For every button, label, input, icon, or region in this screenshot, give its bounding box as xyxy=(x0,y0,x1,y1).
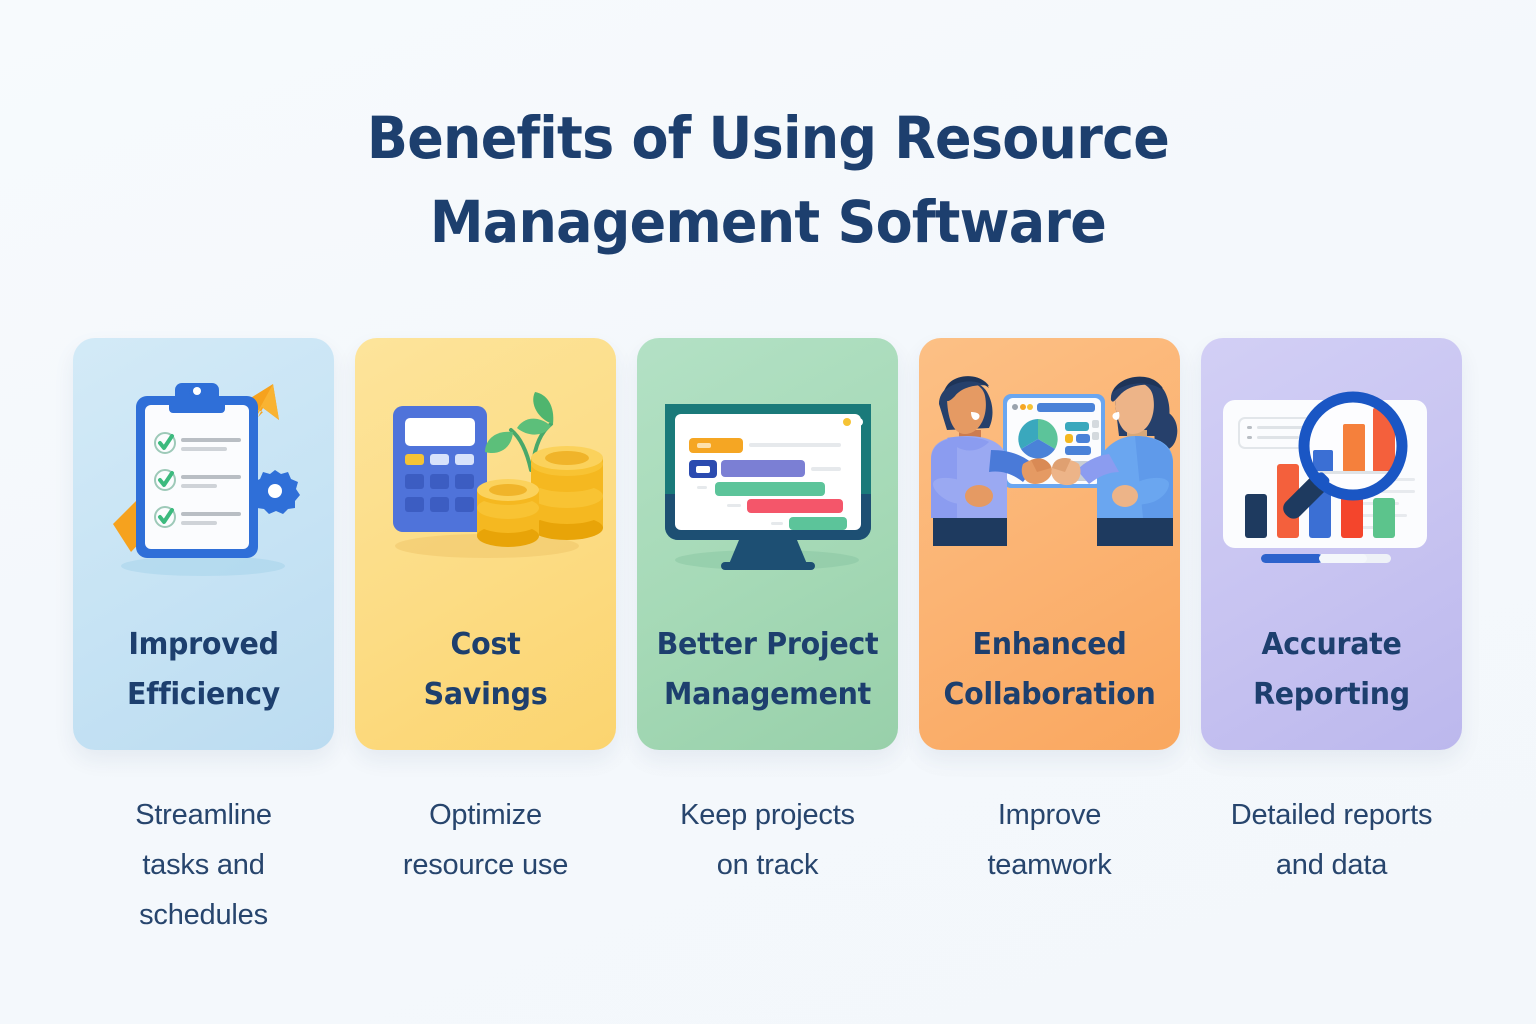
caption-line-2: teamwork xyxy=(987,849,1111,881)
infographic-page: Benefits of Using Resource Management So… xyxy=(0,0,1536,1024)
benefit-card-improved-efficiency[interactable]: Improved Efficiency xyxy=(73,338,334,750)
monitor-gantt-chart-icon xyxy=(637,338,898,608)
two-people-dashboard-icon xyxy=(919,338,1180,608)
card-title-improved-efficiency: Improved Efficiency xyxy=(87,620,320,720)
card-title-line-2: Management xyxy=(664,677,871,712)
caption-accurate-reporting: Detailed reports and data xyxy=(1201,790,1462,940)
caption-line-2: tasks and xyxy=(142,849,264,881)
card-title-line-1: Accurate xyxy=(1261,627,1401,662)
caption-enhanced-collaboration: Improve teamwork xyxy=(919,790,1180,940)
card-title-accurate-reporting: Accurate Reporting xyxy=(1215,620,1448,720)
card-title-line-2: Savings xyxy=(424,677,548,712)
caption-line-2: on track xyxy=(717,849,819,881)
caption-improved-efficiency: Streamline tasks and schedules xyxy=(73,790,334,940)
card-title-enhanced-collaboration: Enhanced Collaboration xyxy=(933,620,1166,720)
benefit-card-accurate-reporting[interactable]: Accurate Reporting xyxy=(1201,338,1462,750)
benefit-caption-row: Streamline tasks and schedules Optimize … xyxy=(73,790,1463,940)
benefit-card-row: Improved Efficiency xyxy=(73,338,1463,750)
benefit-card-enhanced-collaboration[interactable]: Enhanced Collaboration xyxy=(919,338,1180,750)
card-title-line-1: Enhanced xyxy=(973,627,1127,662)
card-title-line-1: Improved xyxy=(128,627,278,662)
card-title-line-2: Reporting xyxy=(1253,677,1410,712)
caption-line-3: schedules xyxy=(139,899,268,931)
card-title-line-2: Collaboration xyxy=(943,677,1155,712)
caption-line-2: resource use xyxy=(403,849,568,881)
caption-line-1: Keep projects xyxy=(680,799,855,831)
benefit-card-cost-savings[interactable]: Cost Savings xyxy=(355,338,616,750)
page-title-line-1: Benefits of Using Resource xyxy=(54,96,1482,180)
magnifier-bar-chart-icon xyxy=(1201,338,1462,608)
caption-line-1: Detailed reports xyxy=(1231,799,1433,831)
card-title-line-1: Better Project xyxy=(657,627,879,662)
page-title: Benefits of Using Resource Management So… xyxy=(0,96,1536,264)
clipboard-checklist-icon xyxy=(73,338,334,608)
caption-line-2: and data xyxy=(1276,849,1387,881)
caption-line-1: Optimize xyxy=(429,799,542,831)
benefit-card-better-project-management[interactable]: Better Project Management xyxy=(637,338,898,750)
calculator-coins-plant-icon xyxy=(355,338,616,608)
caption-cost-savings: Optimize resource use xyxy=(355,790,616,940)
card-title-line-1: Cost xyxy=(451,627,521,662)
card-title-better-project-management: Better Project Management xyxy=(651,620,884,720)
caption-line-1: Streamline xyxy=(135,799,272,831)
card-title-line-2: Efficiency xyxy=(127,677,280,712)
page-title-line-2: Management Software xyxy=(54,180,1482,264)
caption-better-project-management: Keep projects on track xyxy=(637,790,898,940)
caption-line-1: Improve xyxy=(998,799,1101,831)
card-title-cost-savings: Cost Savings xyxy=(369,620,602,720)
